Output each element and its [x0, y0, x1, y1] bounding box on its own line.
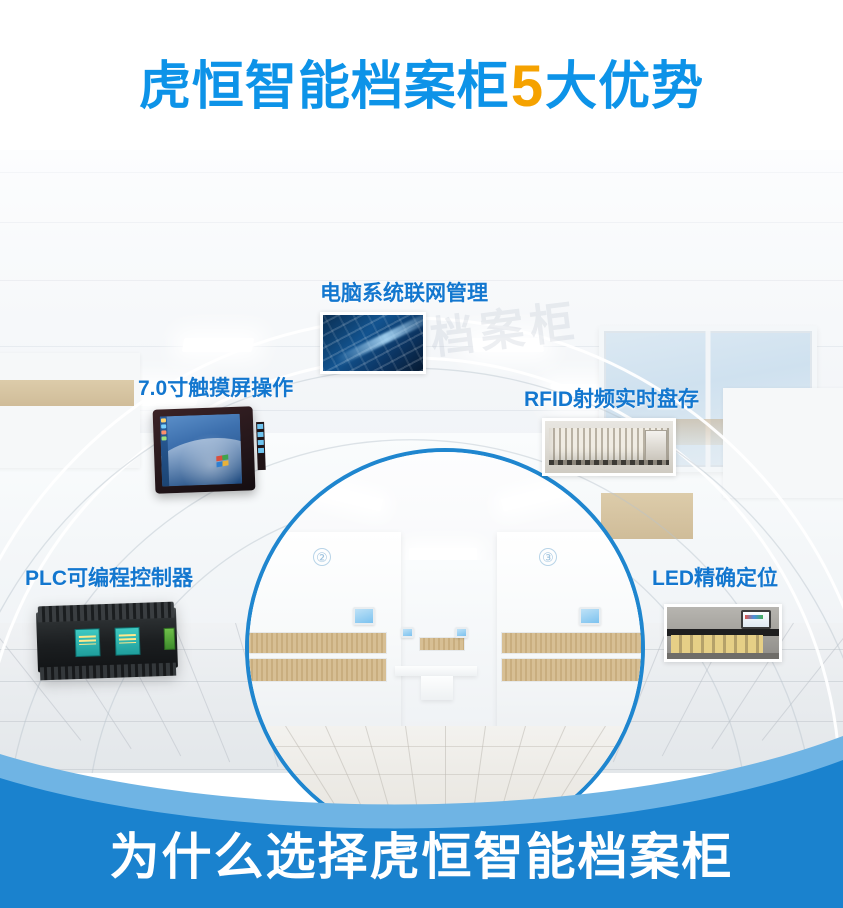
rfid-rail — [549, 460, 669, 465]
desktop-icon-strip — [160, 416, 169, 486]
plc-green-terminal — [164, 628, 176, 650]
plc-module-photo — [32, 601, 182, 680]
cabinet-touch-panel-far — [455, 627, 468, 638]
cabinet-files-right — [501, 632, 645, 654]
page-title: 虎恒智能档案柜5大优势 — [0, 57, 843, 117]
monitor-buttons[interactable] — [256, 422, 266, 470]
page-title-part2: 大优势 — [545, 58, 704, 116]
feature-computer-network[interactable]: 电脑系统联网管理 — [320, 281, 488, 374]
screen-flare — [334, 315, 423, 367]
bottom-banner-text: 为什么选择虎恒智能档案柜 — [110, 817, 734, 889]
feature-plc[interactable]: PLC可编程控制器 — [25, 566, 193, 678]
feature-label-rfid: RFID射频实时盘存 — [524, 387, 699, 413]
header-bar: 虎恒智能档案柜5大优势 — [0, 0, 843, 150]
poster-canvas: 智能档案柜 虎恒智能档案柜5大优势 ② ③ — [0, 0, 843, 908]
feature-rfid[interactable]: RFID射频实时盘存 — [524, 387, 699, 476]
ceiling-grid-band — [0, 222, 843, 223]
touch-monitor-photo — [153, 406, 256, 493]
left-file-strip — [0, 380, 134, 406]
rfid-rack-photo — [545, 421, 673, 473]
cabinet-files-left — [245, 632, 387, 654]
cabinet-touch-panel — [353, 607, 375, 625]
feature-label-led: LED精确定位 — [652, 566, 782, 592]
page-title-part1: 虎恒智能档案柜 — [139, 58, 510, 116]
shelf-base — [667, 653, 779, 659]
cabinet-touch-panel — [579, 607, 601, 625]
feature-label-computer-network: 电脑系统联网管理 — [320, 281, 488, 307]
far-box — [421, 676, 453, 700]
cabinet-files-right — [501, 658, 645, 682]
bottom-banner: 为什么选择虎恒智能档案柜 — [0, 798, 843, 908]
page-title-number: 5 — [510, 54, 545, 119]
led-display-icon — [741, 610, 771, 629]
feature-label-touchscreen: 7.0寸触摸屏操作 — [138, 376, 293, 402]
plc-display-module — [75, 628, 101, 657]
rfid-reader-box — [645, 430, 667, 462]
plc-display-module — [115, 627, 141, 656]
left-cabinet-block — [0, 353, 140, 468]
feature-led[interactable]: LED精确定位 — [652, 566, 782, 662]
feature-label-plc: PLC可编程控制器 — [25, 566, 193, 592]
ceiling-grid-band — [0, 172, 843, 173]
desk-far — [395, 666, 477, 676]
feature-thumb-led[interactable] — [664, 604, 782, 662]
monitor-screen — [160, 414, 242, 487]
cabinet-files-far — [419, 637, 465, 651]
cabinet-touch-panel-far — [401, 627, 414, 638]
led-shelf-photo — [667, 607, 779, 659]
feature-touchscreen[interactable]: 7.0寸触摸屏操作 — [138, 376, 293, 492]
windows-logo-icon — [216, 454, 228, 467]
file-folders — [671, 635, 763, 653]
right-cabinet-block — [723, 388, 843, 498]
feature-thumb-rfid[interactable] — [542, 418, 676, 476]
cabinet-number-3: ③ — [539, 548, 557, 566]
ceiling-light — [181, 338, 253, 352]
feature-thumb-computer-network[interactable] — [320, 312, 426, 374]
cabinet-number-2: ② — [313, 548, 331, 566]
wallpaper-hill — [160, 430, 242, 487]
keyboard-photo — [323, 315, 423, 371]
cabinet-files-left — [245, 658, 387, 682]
